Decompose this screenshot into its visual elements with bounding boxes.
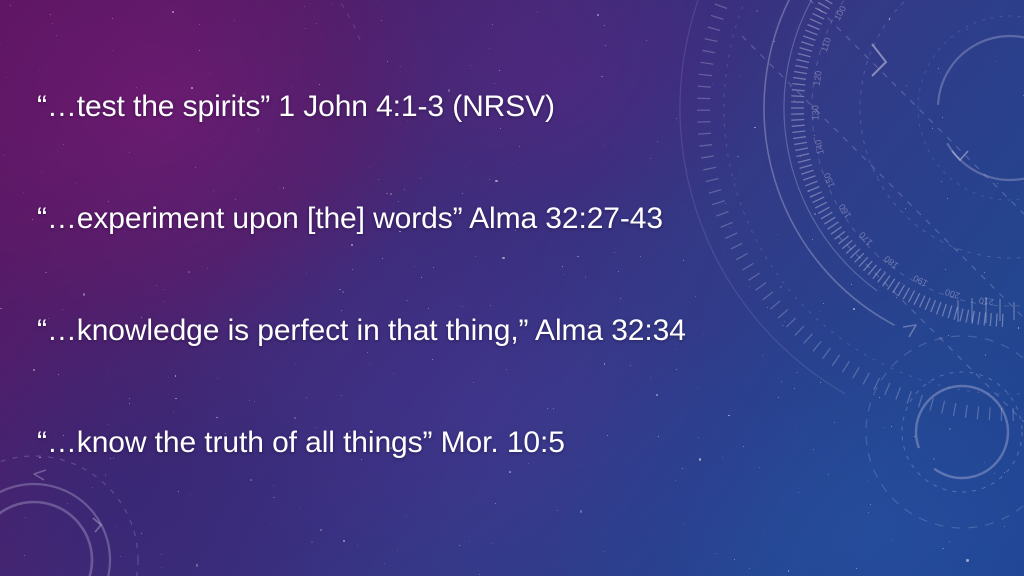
- presentation-slide: 2102001901801701601501401301201101009080: [0, 0, 1024, 576]
- scripture-line: “…knowledge is perfect in that thing,” A…: [37, 316, 937, 428]
- scripture-reference-list: “…test the spirits” 1 John 4:1-3 (NRSV) …: [37, 92, 937, 540]
- svg-text:200: 200: [944, 287, 961, 301]
- faint-arc: [300, 0, 360, 40]
- svg-text:210: 210: [978, 295, 994, 307]
- svg-text:120: 120: [812, 70, 824, 86]
- scripture-line: “…experiment upon [the] words” Alma 32:2…: [37, 204, 937, 316]
- svg-text:110: 110: [819, 36, 833, 53]
- radar-chevron-marker: [872, 44, 886, 76]
- radar-chevron-marker: [952, 151, 968, 160]
- scripture-line: “…know the truth of all things” Mor. 10:…: [37, 428, 937, 540]
- tick-cluster: [958, 297, 1014, 323]
- svg-text:100: 100: [832, 4, 848, 22]
- scripture-line: “…test the spirits” 1 John 4:1-3 (NRSV): [37, 92, 937, 204]
